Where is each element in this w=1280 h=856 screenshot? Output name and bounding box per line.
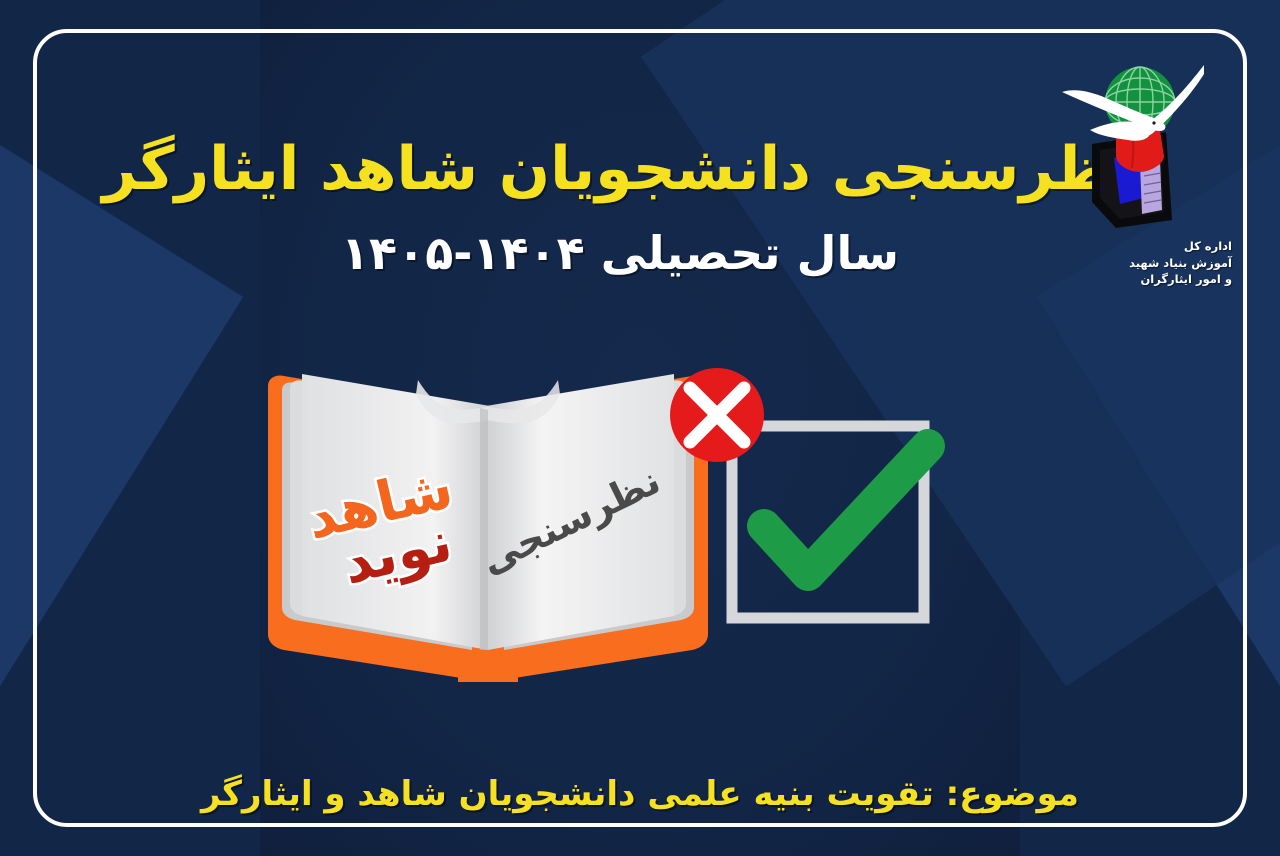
logo-mark-svg bbox=[1054, 52, 1234, 237]
vote-marks-group bbox=[660, 368, 960, 636]
book-gutter-shadow bbox=[480, 408, 488, 650]
footer-subject-text: موضوع: تقویت بنیه علمی دانشجویان شاهد و … bbox=[0, 774, 1280, 814]
green-check-icon[interactable] bbox=[764, 446, 928, 574]
logo-caption-line-3: و امور ایثارگران bbox=[1092, 271, 1232, 288]
background-band-navy-mid-left bbox=[0, 0, 243, 856]
open-book-svg: شاهد نوید نظرسنجی bbox=[258, 350, 718, 710]
logo-caption-line-1: اداره کل bbox=[1092, 238, 1232, 255]
poster-root: نظرسنجی دانشجویان شاهد ایثارگر سال تحصیل… bbox=[0, 0, 1280, 856]
vote-marks-svg bbox=[660, 368, 960, 636]
open-book-illustration: شاهد نوید نظرسنجی bbox=[258, 350, 718, 710]
organization-logo: اداره کل آموزش بنیاد شهید و امور ایثارگر… bbox=[1054, 52, 1234, 302]
logo-caption: اداره کل آموزش بنیاد شهید و امور ایثارگر… bbox=[1092, 238, 1232, 288]
red-reject-icon[interactable] bbox=[670, 368, 764, 462]
logo-caption-line-2: آموزش بنیاد شهید bbox=[1092, 255, 1232, 272]
